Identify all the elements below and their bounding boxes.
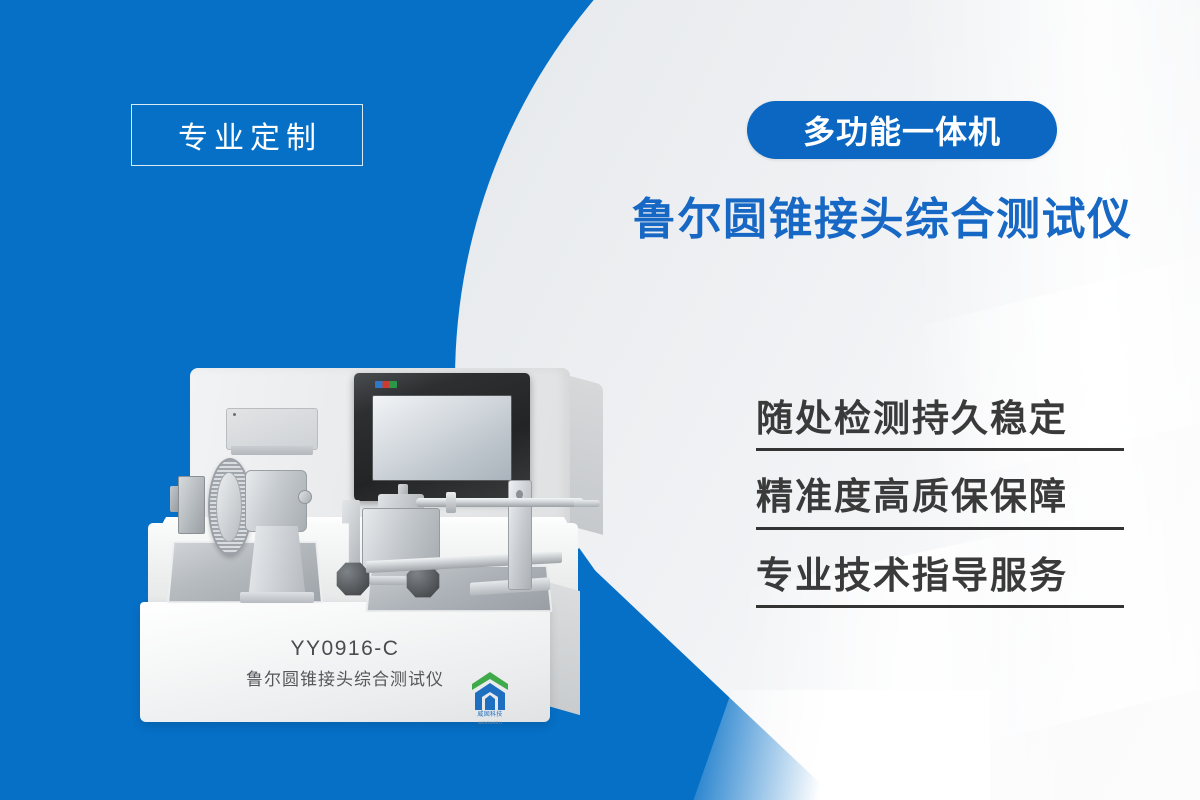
drive-shaft-tip [574, 500, 600, 507]
background-white-sliver [690, 690, 990, 800]
custom-service-tag: 专业定制 [131, 104, 363, 166]
feature-item-label: 专业技术指导服务 [756, 555, 1124, 596]
rotary-head-stand [248, 526, 306, 600]
multifunction-pill-label: 多功能一体机 [803, 107, 1001, 153]
feature-item: 专业技术指导服务 [756, 555, 1124, 608]
rotary-head-clamp [178, 476, 205, 534]
rotary-head-stand-foot [240, 592, 314, 603]
feature-item-label: 精准度高质保保障 [756, 476, 1124, 517]
machine-access-panel [226, 408, 318, 450]
drive-shaft-collar [446, 492, 456, 513]
multifunction-pill-badge: 多功能一体机 [747, 101, 1057, 159]
feature-item: 精准度高质保保障 [756, 476, 1124, 529]
company-logo-pinyin: WEIGUKEJI [460, 720, 520, 725]
feature-list: 随处检测持久稳定 精准度高质保保障 专业技术指导服务 [756, 398, 1126, 608]
rotary-dial-hub [216, 472, 242, 542]
hmi-touchscreen[interactable] [354, 373, 530, 501]
company-logo-icon [468, 670, 512, 716]
feature-item-label: 随处检测持久稳定 [756, 398, 1124, 439]
hmi-brand-logo-icon [375, 381, 397, 388]
product-model-label: YY0916-C [140, 637, 550, 661]
product-photo: YY0916-C 鲁尔圆锥接头综合测试仪 威固科技 WEIGUKEJI [130, 340, 675, 780]
machine-access-panel-screw [233, 413, 236, 416]
custom-service-tag-label: 专业定制 [172, 113, 322, 157]
drive-shaft [416, 498, 584, 507]
hmi-display-area[interactable] [372, 395, 512, 481]
promo-banner: 专业定制 多功能一体机 鲁尔圆锥接头综合测试仪 随处检测持久稳定 精准度高质保保… [0, 0, 1200, 800]
rotary-drive-cap [298, 490, 312, 504]
page-title: 鲁尔圆锥接头综合测试仪 [632, 195, 1192, 246]
rotary-drive-housing [245, 470, 307, 532]
machine-access-panel-lip [231, 446, 313, 455]
company-logo-text: 威固科技 WEIGUKEJI [460, 712, 520, 725]
feature-item: 随处检测持久稳定 [756, 398, 1124, 451]
machine-console-side [567, 375, 603, 535]
company-logo-name: 威固科技 [477, 712, 502, 718]
carriage-knob-shaft [368, 576, 408, 585]
